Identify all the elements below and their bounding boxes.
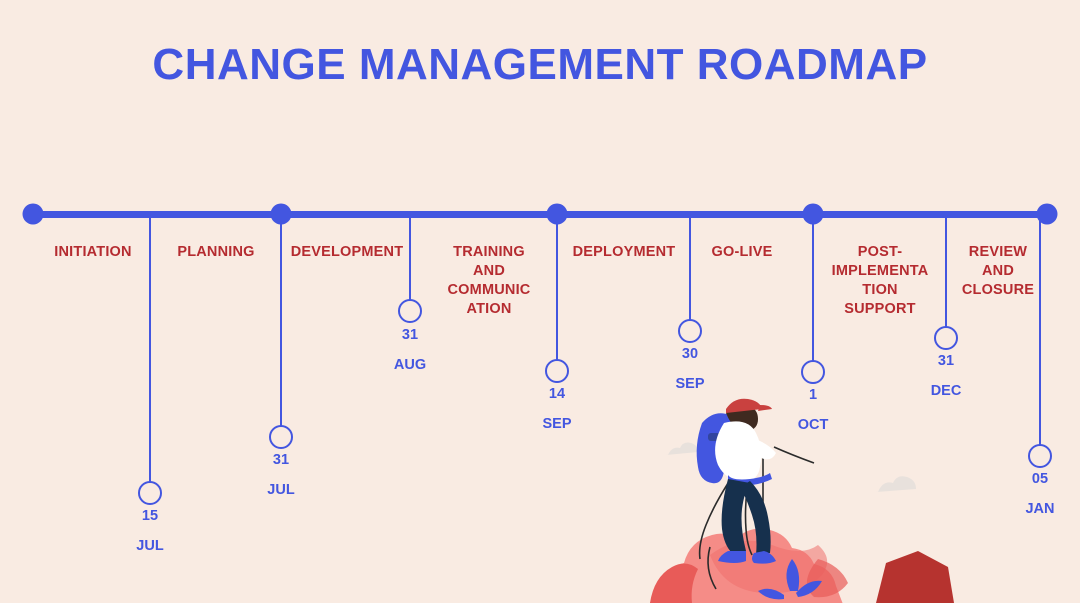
milestone-month: SEP [675,376,704,392]
milestone-stem [409,214,411,301]
milestone-marker[interactable] [269,425,293,449]
milestone-stem [556,214,558,361]
milestone-marker[interactable] [934,326,958,350]
milestone-day: 31 [402,327,418,343]
milestone-marker[interactable] [801,360,825,384]
milestone-marker[interactable] [1028,444,1052,468]
milestone-stem [1039,214,1041,446]
phase-label: POST-IMPLEMENTATIONSUPPORT [824,243,936,320]
milestone-stem [149,214,151,483]
milestone-month: JUL [136,538,163,554]
milestone-month: JAN [1025,501,1054,517]
milestone-stem [812,214,814,362]
phase-label: DEPLOYMENT [559,243,689,262]
phase-label: REVIEWANDCLOSURE [946,243,1050,300]
phase-label: PLANNING [156,243,276,262]
phase-label: TRAININGANDCOMMUNICATION [441,243,537,320]
milestone-stem [689,214,691,321]
timeline-axis [33,211,1047,218]
milestone-marker[interactable] [545,359,569,383]
phase-label: INITIATION [33,243,153,262]
phase-label: GO-LIVE [687,243,797,262]
page-title: CHANGE MANAGEMENT ROADMAP [0,40,1080,90]
milestone-day: 14 [549,386,565,402]
milestone-month: JUL [267,482,294,498]
milestone-day: 31 [273,452,289,468]
phase-label: DEVELOPMENT [282,243,412,262]
roadmap-canvas: CHANGE MANAGEMENT ROADMAP INITIATIONPLAN… [0,0,1080,603]
milestone-month: AUG [394,357,426,373]
timeline-node[interactable] [23,204,44,225]
milestone-stem [945,214,947,328]
milestone-stem [280,214,282,427]
milestone-day: 30 [682,346,698,362]
milestone-day: 05 [1032,471,1048,487]
hiker-illustration [650,395,990,603]
milestone-marker[interactable] [398,299,422,323]
milestone-marker[interactable] [138,481,162,505]
milestone-month: SEP [542,416,571,432]
milestone-marker[interactable] [678,319,702,343]
milestone-day: 31 [938,353,954,369]
milestone-day: 15 [142,508,158,524]
